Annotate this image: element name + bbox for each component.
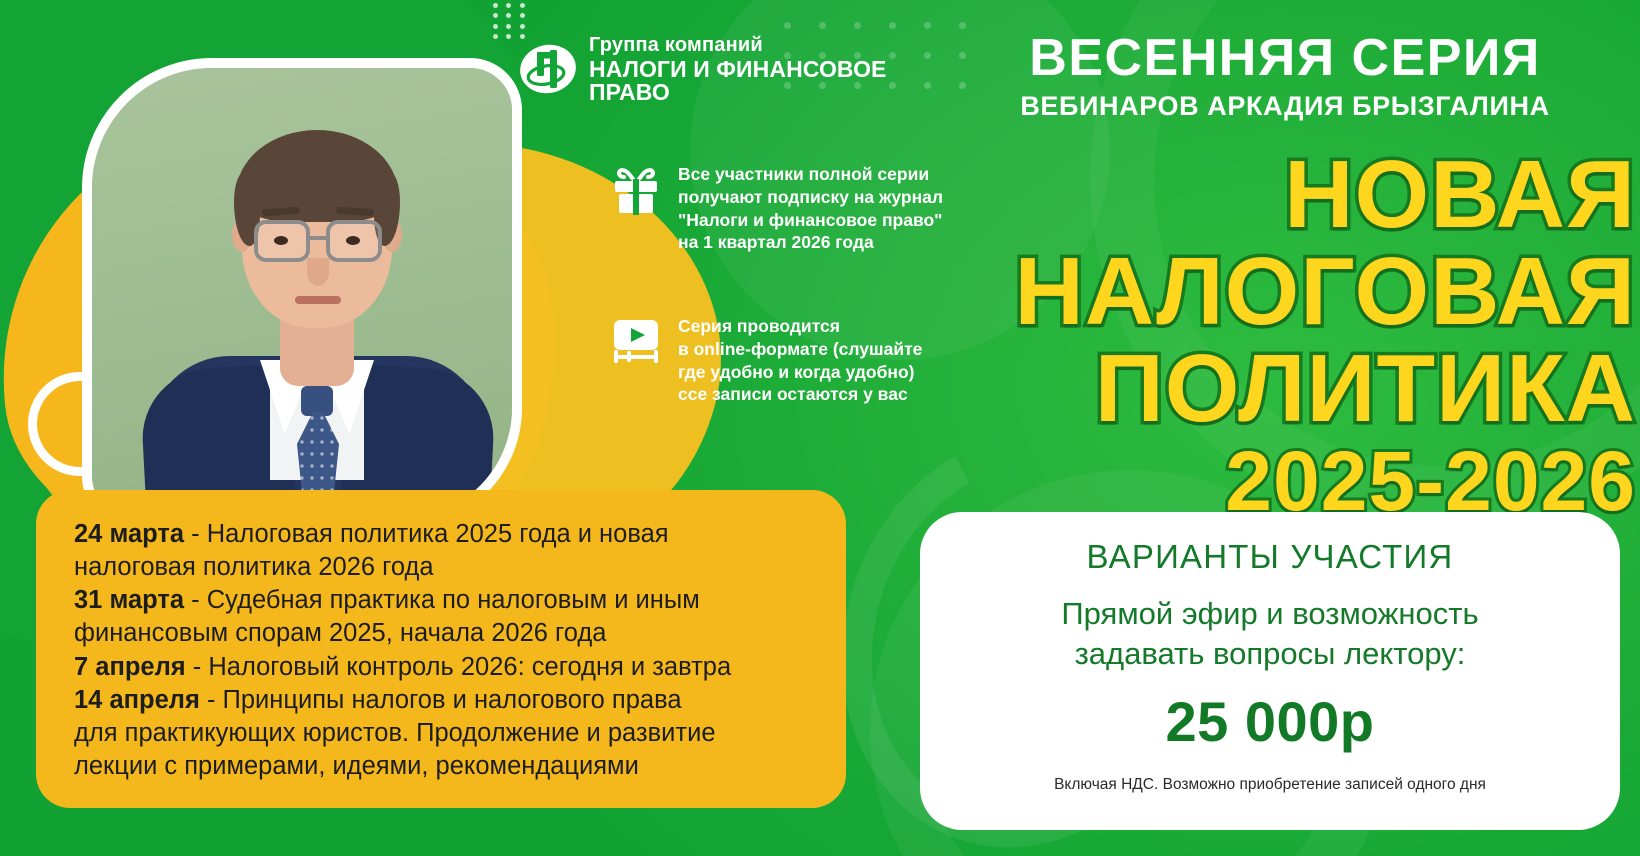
schedule-date: 14 апреля xyxy=(74,686,200,714)
schedule-text: налоговая политика 2026 года xyxy=(74,553,434,581)
schedule-sep: - xyxy=(184,520,207,548)
schedule-card: 24 марта - Налоговая политика 2025 года … xyxy=(36,490,846,808)
schedule-date: 24 марта xyxy=(74,520,184,548)
headline-line-2: НАЛОГОВАЯ xyxy=(880,245,1636,338)
schedule-sep: - xyxy=(200,686,223,714)
company-logo-mark-icon xyxy=(519,40,577,98)
logo-line-1: Группа компаний xyxy=(589,35,909,55)
schedule-text: для практикующих юристов. Продолжение и … xyxy=(74,719,716,747)
schedule-row: лекции с примерами, идеями, рекомендация… xyxy=(74,750,812,783)
schedule-row: финансовым спорам 2025, начала 2026 года xyxy=(74,617,812,650)
gift-icon xyxy=(610,165,662,215)
schedule-row: 14 апреля - Принципы налогов и налоговог… xyxy=(74,684,812,717)
schedule-text: финансовым спорам 2025, начала 2026 года xyxy=(74,619,606,647)
schedule-row: 31 марта - Судебная практика по налоговы… xyxy=(74,584,812,617)
headline-line-1: НОВАЯ xyxy=(880,148,1636,241)
schedule-date: 7 апреля xyxy=(74,653,186,681)
schedule-sep: - xyxy=(186,653,209,681)
series-kicker: ВЕСЕННЯЯ СЕРИЯ ВЕБИНАРОВ АРКАДИЯ БРЫЗГАЛ… xyxy=(940,32,1630,122)
schedule-text: Принципы налогов и налогового права xyxy=(223,686,682,714)
headline-years: 2025-2026 xyxy=(880,441,1636,522)
kicker-primary: ВЕСЕННЯЯ СЕРИЯ xyxy=(940,32,1630,85)
logo-line-2: НАЛОГИ И ФИНАНСОВОЕ ПРАВО xyxy=(589,58,909,104)
schedule-row: для практикующих юристов. Продолжение и … xyxy=(74,717,812,750)
video-play-icon xyxy=(610,317,662,367)
schedule-text: Налоговый контроль 2026: сегодня и завтр… xyxy=(208,653,731,681)
schedule-text: лекции с примерами, идеями, рекомендация… xyxy=(74,752,639,780)
schedule-sep: - xyxy=(184,586,207,614)
company-logo: Группа компаний НАЛОГИ И ФИНАНСОВОЕ ПРАВ… xyxy=(519,38,909,100)
pricing-title: ВАРИАНТЫ УЧАСТИЯ xyxy=(920,538,1620,576)
schedule-text: Судебная практика по налоговым и иным xyxy=(207,586,700,614)
schedule-row: 7 апреля - Налоговый контроль 2026: сего… xyxy=(74,651,812,684)
headline-line-3: ПОЛИТИКА xyxy=(880,342,1636,435)
promo-banner: Группа компаний НАЛОГИ И ФИНАНСОВОЕ ПРАВ… xyxy=(0,0,1640,856)
speaker-portrait xyxy=(82,58,522,528)
dot-grid-small xyxy=(489,0,529,42)
schedule-date: 31 марта xyxy=(74,586,184,614)
schedule-row: налоговая политика 2026 года xyxy=(74,551,812,584)
pricing-subtitle: Прямой эфир и возможность задавать вопро… xyxy=(920,594,1620,673)
schedule-row: 24 марта - Налоговая политика 2025 года … xyxy=(74,518,812,551)
main-headline: НОВАЯ НАЛОГОВАЯ ПОЛИТИКА 2025-2026 xyxy=(880,148,1636,523)
pricing-subtitle-line-1: Прямой эфир и возможность xyxy=(920,594,1620,634)
schedule-text: Налоговая политика 2025 года и новая xyxy=(207,520,669,548)
pricing-fine-print: Включая НДС. Возможно приобретение запис… xyxy=(920,776,1620,794)
pricing-subtitle-line-2: задавать вопросы лектору: xyxy=(920,634,1620,674)
kicker-secondary: ВЕБИНАРОВ АРКАДИЯ БРЫЗГАЛИНА xyxy=(940,91,1630,122)
pricing-amount: 25 000р xyxy=(920,689,1620,754)
pricing-card: ВАРИАНТЫ УЧАСТИЯ Прямой эфир и возможнос… xyxy=(920,512,1620,830)
